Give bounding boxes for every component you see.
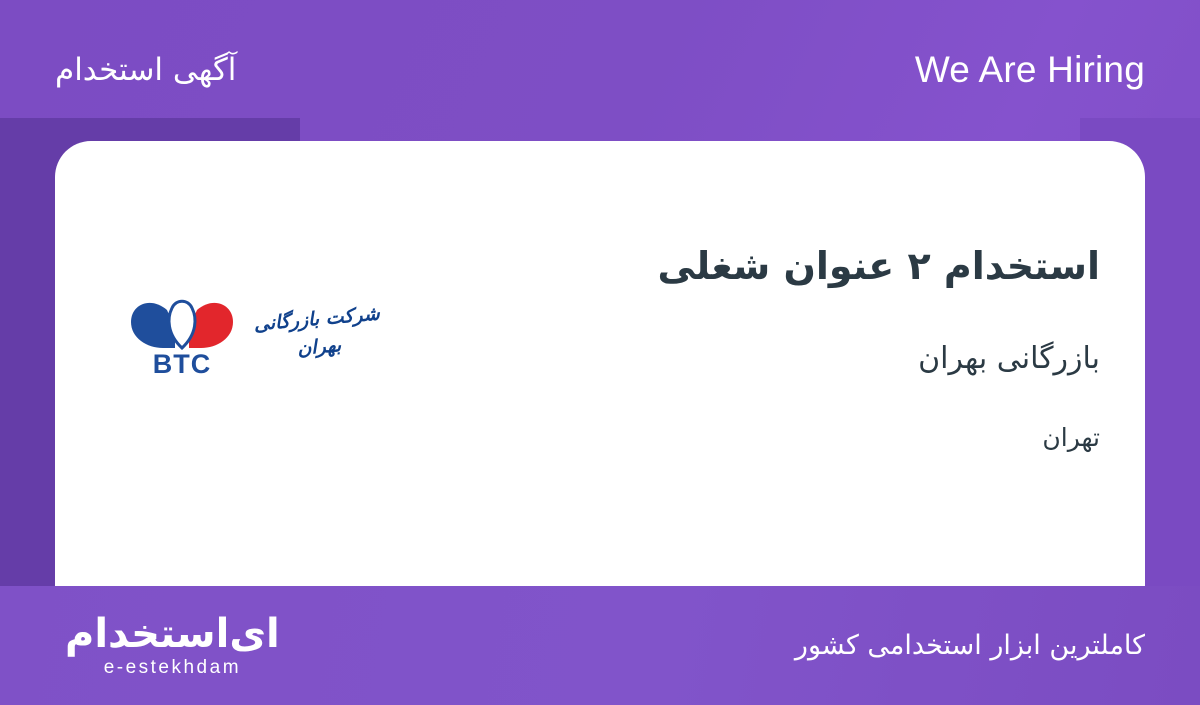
job-card[interactable]: استخدام ۲ عنوان شغلی بازرگانی بهران تهرا… xyxy=(55,141,1145,586)
btc-wordmark: BTC xyxy=(153,349,212,379)
company-logo: شرکت بازرگانی بهران BTC xyxy=(100,288,420,400)
job-card-content: استخدام ۲ عنوان شغلی بازرگانی بهران تهرا… xyxy=(55,141,1145,586)
btc-trefoil-logo-icon: BTC xyxy=(127,288,237,380)
hiring-headline-persian: آگهی استخدام xyxy=(55,52,236,88)
poster-footer: کاملترین ابزار استخدامی کشور ای‌استخدام … xyxy=(0,586,1200,705)
company-logo-script-text: شرکت بازرگانی بهران xyxy=(241,300,395,368)
hiring-headline-english: We Are Hiring xyxy=(915,49,1145,91)
poster-header: We Are Hiring آگهی استخدام xyxy=(0,0,1200,140)
company-logo-wrap: شرکت بازرگانی بهران BTC xyxy=(127,288,393,380)
brand-name-english: e-estekhdam xyxy=(104,658,241,677)
job-location: تهران xyxy=(1042,422,1100,455)
job-title: استخدام ۲ عنوان شغلی xyxy=(657,243,1100,291)
brand-name-persian: ای‌استخدام xyxy=(65,614,280,654)
company-name: بازرگانی بهران xyxy=(918,339,1100,378)
job-details: استخدام ۲ عنوان شغلی بازرگانی بهران تهرا… xyxy=(420,233,1100,454)
e-estekhdam-brand-logo[interactable]: ای‌استخدام e-estekhdam xyxy=(55,614,280,677)
footer-tagline: کاملترین ابزار استخدامی کشور xyxy=(795,630,1170,661)
job-ad-poster: We Are Hiring آگهی استخدام استخدام ۲ عنو… xyxy=(0,0,1200,705)
